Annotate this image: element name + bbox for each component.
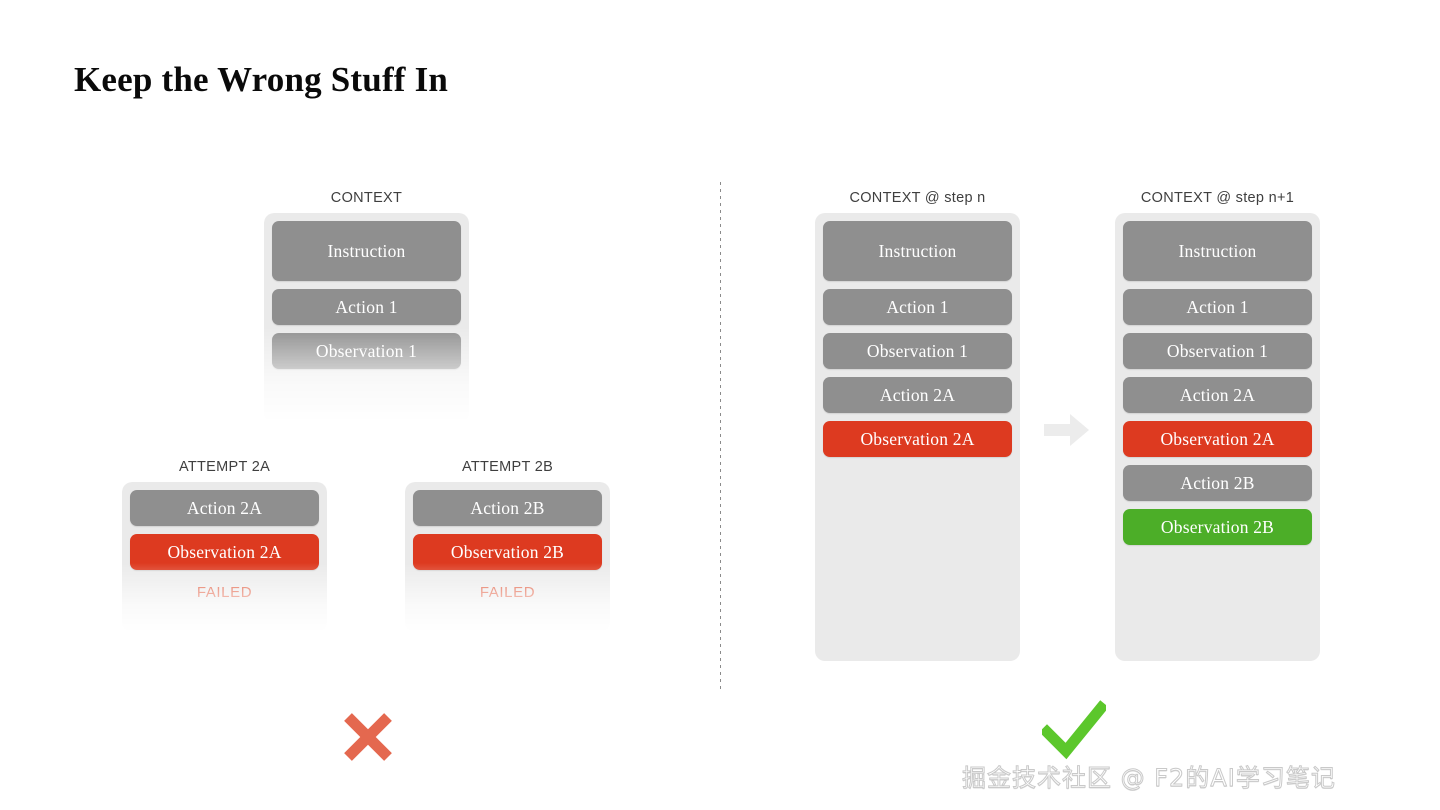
context-block-action-1: Action 1: [272, 289, 461, 325]
step-n1-block-action-2b: Action 2B: [1123, 465, 1312, 501]
step-n-block-observation-2a: Observation 2A: [823, 421, 1012, 457]
step-n1-block-instruction: Instruction: [1123, 221, 1312, 281]
step-n1-block-observation-2b: Observation 2B: [1123, 509, 1312, 545]
attempt-2b-label: ATTEMPT 2B: [405, 459, 610, 475]
flow-arrow-icon: [1044, 412, 1090, 448]
attempt-2a-block-action: Action 2A: [130, 490, 319, 526]
step-n-card-label: CONTEXT @ step n: [815, 190, 1020, 206]
context-block-instruction: Instruction: [272, 221, 461, 281]
context-block-observation-1: Observation 1: [272, 333, 461, 369]
context-card-label: CONTEXT: [264, 190, 469, 206]
page-title: Keep the Wrong Stuff In: [74, 60, 448, 100]
cross-icon: [340, 708, 396, 766]
step-n1-block-action-1: Action 1: [1123, 289, 1312, 325]
attempt-2b-block-action: Action 2B: [413, 490, 602, 526]
panel-divider: [720, 182, 721, 690]
attempt-2a-label: ATTEMPT 2A: [122, 459, 327, 475]
step-n-block-action-1: Action 1: [823, 289, 1012, 325]
attempt-2a-card: Action 2A Observation 2A FAILED: [122, 482, 327, 632]
attempt-2b-card: Action 2B Observation 2B FAILED: [405, 482, 610, 632]
attempt-2b-status: FAILED: [405, 584, 610, 601]
attempt-2a-status: FAILED: [122, 584, 327, 601]
step-n1-block-action-2a: Action 2A: [1123, 377, 1312, 413]
step-n-block-observation-1: Observation 1: [823, 333, 1012, 369]
step-n1-block-observation-1: Observation 1: [1123, 333, 1312, 369]
step-n-plus-1-card-label: CONTEXT @ step n+1: [1115, 190, 1320, 206]
step-n-plus-1-card: Instruction Action 1 Observation 1 Actio…: [1115, 213, 1320, 661]
watermark: 掘金技术社区 @ F2的AI学习笔记: [962, 758, 1336, 793]
attempt-2a-block-observation: Observation 2A: [130, 534, 319, 570]
step-n-block-action-2a: Action 2A: [823, 377, 1012, 413]
step-n-block-instruction: Instruction: [823, 221, 1012, 281]
attempt-2b-block-observation: Observation 2B: [413, 534, 602, 570]
check-icon: [1042, 700, 1106, 762]
context-card: Instruction Action 1 Observation 1: [264, 213, 469, 423]
step-n1-block-observation-2a: Observation 2A: [1123, 421, 1312, 457]
step-n-card: Instruction Action 1 Observation 1 Actio…: [815, 213, 1020, 661]
